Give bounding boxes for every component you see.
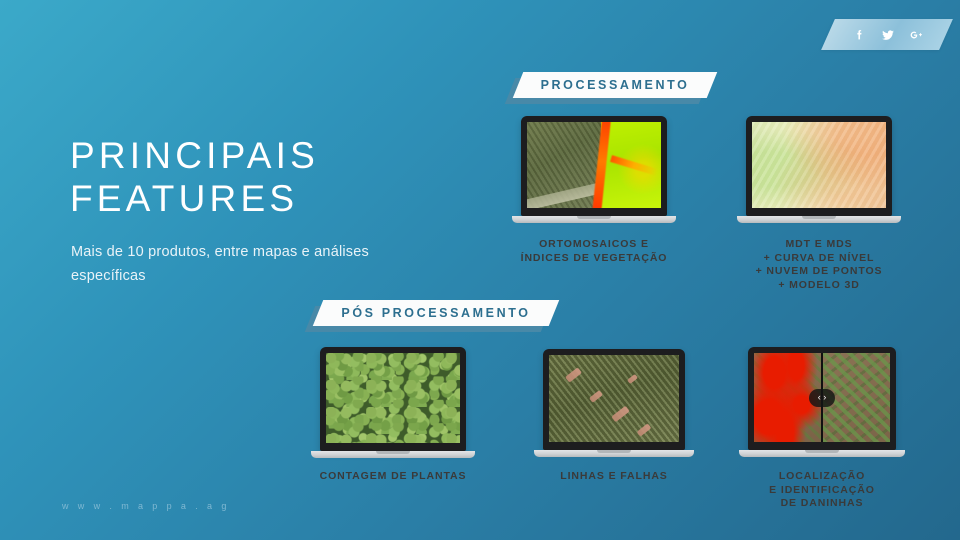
row-gap-streak: [627, 374, 638, 384]
twitter-icon[interactable]: [880, 27, 895, 42]
aerial-photo-half: [527, 122, 603, 208]
feature-card-mdt-mds[interactable]: [746, 116, 892, 223]
laptop-lid: [543, 349, 685, 450]
laptop-lid: [521, 116, 667, 216]
laptop-base: [512, 216, 676, 223]
caption-line: + CURVA DE NÍVEL: [719, 252, 919, 266]
title-line-2: FEATURES: [70, 177, 319, 220]
laptop-screen-crop-rows: [549, 355, 679, 442]
page-title: PRINCIPAIS FEATURES: [70, 134, 319, 220]
compare-slider-handle[interactable]: ‹ ›: [809, 389, 835, 407]
feature-card-daninhas[interactable]: ‹ ›: [748, 347, 896, 457]
caption-line: ÍNDICES DE VEGETAÇÃO: [494, 252, 694, 266]
feature-card-ortomosaicos[interactable]: [521, 116, 667, 223]
section-label-processing: PROCESSAMENTO: [518, 72, 712, 98]
laptop-lid: [320, 347, 466, 451]
caption-line: E IDENTIFICAÇÃO: [722, 484, 922, 498]
section-banner-processing: PROCESSAMENTO: [518, 72, 712, 98]
presentation-slide: PRINCIPAIS FEATURES Mais de 10 produtos,…: [0, 0, 960, 540]
section-banner-post-processing: PÓS PROCESSAMENTO: [318, 300, 554, 326]
caption-line: LINHAS E FALHAS: [514, 470, 714, 484]
laptop-lid: [746, 116, 892, 216]
row-gap-streak: [637, 423, 652, 436]
footer-website-url: w w w . m a p p a . a g: [62, 501, 230, 511]
crop-rows-view: [549, 355, 679, 442]
weed-compare-view: ‹ ›: [754, 353, 890, 442]
subtitle-text: Mais de 10 produtos, entre mapas e análi…: [71, 240, 401, 288]
laptop-base: [739, 450, 905, 457]
laptop-screen-canopy: [326, 353, 460, 443]
caption-line: MDT E MDS: [719, 238, 919, 252]
laptop-screen-ndvi: [527, 122, 661, 208]
caption-line: CONTAGEM DE PLANTAS: [293, 470, 493, 484]
feature-caption-ortomosaicos: ORTOMOSAICOS E ÍNDICES DE VEGETAÇÃO: [494, 238, 694, 265]
caption-line: + MODELO 3D: [719, 279, 919, 293]
feature-caption-linhas-falhas: LINHAS E FALHAS: [514, 470, 714, 484]
section-label-post-processing: PÓS PROCESSAMENTO: [318, 300, 554, 326]
laptop-base: [737, 216, 901, 223]
laptop-lid: ‹ ›: [748, 347, 896, 450]
elevation-model-view: [752, 122, 886, 208]
feature-card-contagem-plantas[interactable]: [320, 347, 466, 458]
facebook-icon[interactable]: [852, 27, 867, 42]
row-gap-streak: [565, 367, 582, 382]
feature-card-linhas-falhas[interactable]: [543, 349, 685, 457]
feature-caption-mdt-mds: MDT E MDS + CURVA DE NÍVEL + NUVEM DE PO…: [719, 238, 919, 292]
tree-canopy-view: [326, 353, 460, 443]
caption-line: LOCALIZAÇÃO: [722, 470, 922, 484]
laptop-base: [311, 451, 475, 458]
laptop-screen-elevation: [752, 122, 886, 208]
caption-line: DE DANINHAS: [722, 497, 922, 511]
title-line-1: PRINCIPAIS: [70, 134, 319, 177]
row-gap-streak: [589, 390, 603, 403]
feature-caption-contagem-plantas: CONTAGEM DE PLANTAS: [293, 470, 493, 484]
laptop-base: [534, 450, 694, 457]
feature-caption-daninhas: LOCALIZAÇÃO E IDENTIFICAÇÃO DE DANINHAS: [722, 470, 922, 511]
row-gap-streak: [611, 406, 629, 423]
social-links-bar[interactable]: [821, 19, 953, 50]
google-plus-icon[interactable]: [908, 27, 923, 42]
caption-line: ORTOMOSAICOS E: [494, 238, 694, 252]
caption-line: + NUVEM DE PONTOS: [719, 265, 919, 279]
ndvi-split-view: [527, 122, 661, 208]
laptop-screen-weed-compare: ‹ ›: [754, 353, 890, 442]
